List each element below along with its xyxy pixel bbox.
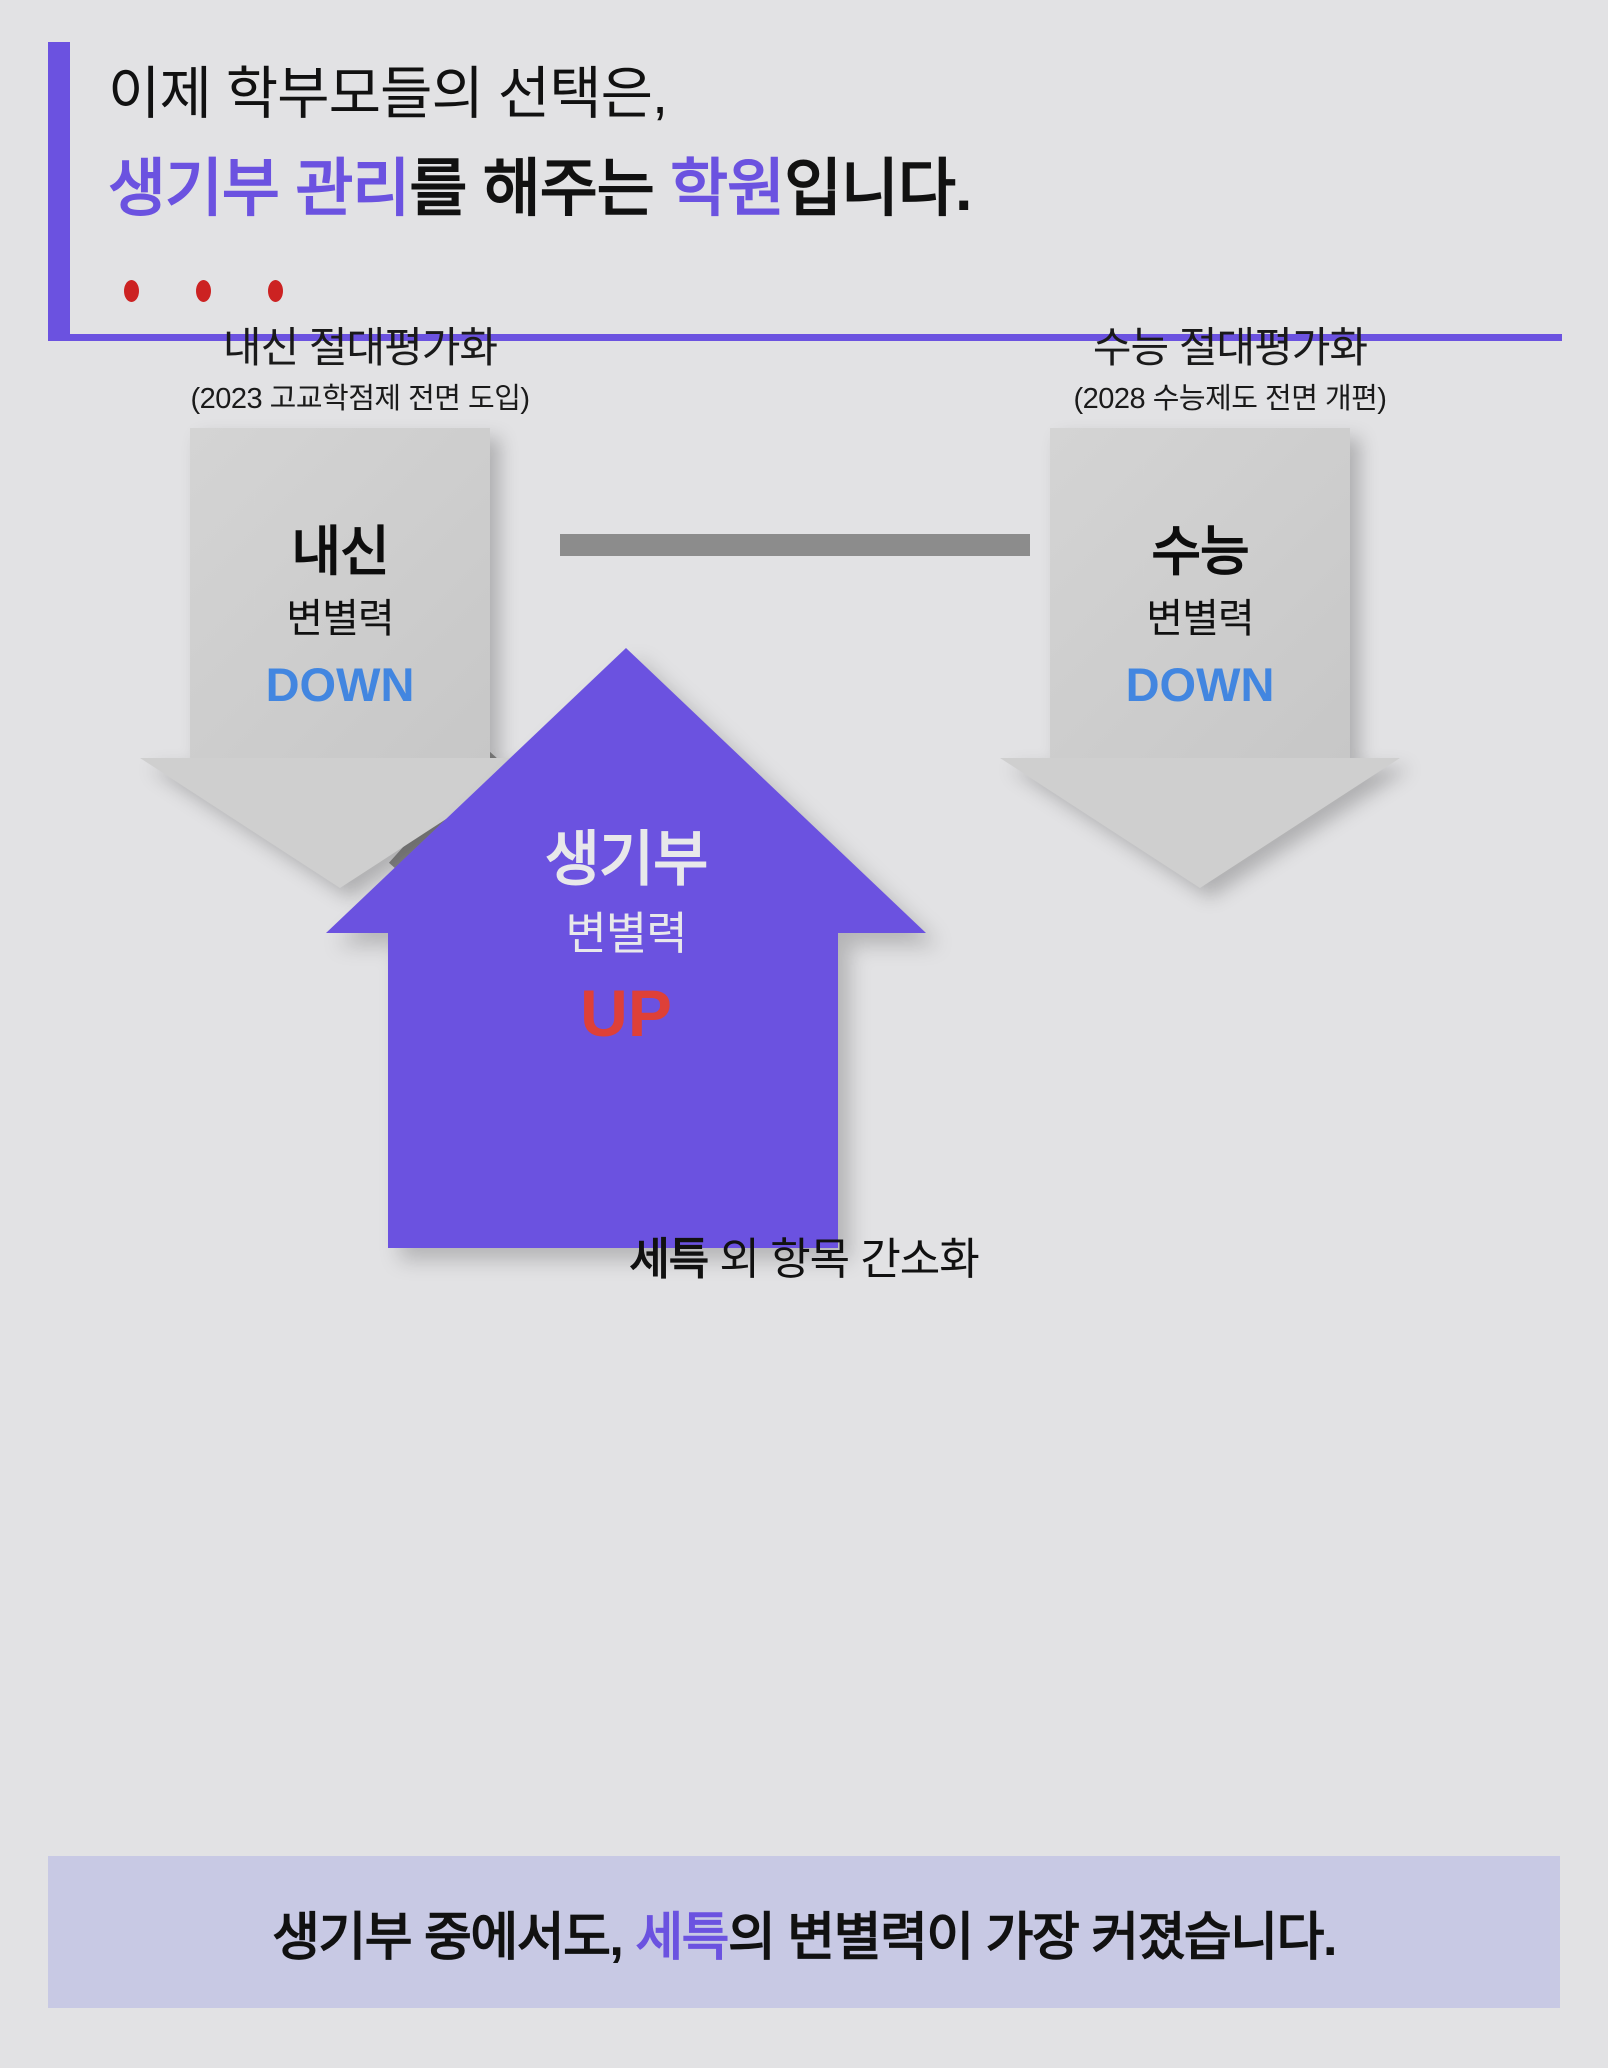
caption-left-main: 내신 절대평가화 [30,324,690,372]
caption-right-sub: (2028 수능제도 전면 개편) [900,382,1560,417]
arrow-down-suneung-subtitle: 변별력 [1050,597,1350,641]
arrow-up-saenggibu: 생기부 변별력 UP [326,648,926,1248]
headline-line-2: 생기부 관리를 해주는 학원입니다. [108,152,1508,228]
arrow-down-suneung-status: DOWN [1050,659,1350,711]
footer-text-part-2: 의 변별력이 가장 커졌습니다. [728,1909,1336,1967]
headline-accent-1: 생기부 관리 [108,154,409,224]
arrow-up-saenggibu-subtitle: 변별력 [326,909,926,959]
arrow-up-saenggibu-title: 생기부 [326,828,926,891]
arrow-down-naesin-subtitle: 변별력 [190,597,490,641]
arrow-down-suneung: 수능 변별력 DOWN [1000,428,1400,888]
caption-left: 내신 절대평가화 (2023 고교학점제 전면 도입) [30,324,690,417]
arrow-up-saenggibu-text: 생기부 변별력 UP [326,828,926,1049]
caption-right-main: 수능 절대평가화 [900,324,1560,372]
diagram-section: 내신 절대평가화 (2023 고교학점제 전면 도입) 수능 절대평가화 (20… [0,348,1608,1348]
caption-left-sub: (2023 고교학점제 전면 도입) [30,382,690,417]
diagram-bottom-caption-strong: 세특 [629,1235,708,1284]
headline-plain-2: 입니다. [784,154,971,224]
caption-right: 수능 절대평가화 (2028 수능제도 전면 개편) [900,324,1560,417]
headline-accent-2: 학원 [670,154,784,224]
connector-horizontal [560,534,1030,556]
footer-text-accent: 세특 [635,1909,728,1967]
diagram-bottom-caption-rest: 외 항목 간소화 [708,1235,979,1284]
arrow-down-suneung-text: 수능 변별력 DOWN [1050,428,1350,710]
headline-line-1: 이제 학부모들의 선택은, [108,60,1508,130]
footer-banner-text: 생기부 중에서도, 세특의 변별력이 가장 커졌습니다. [272,1895,1336,1970]
footer-banner: 생기부 중에서도, 세특의 변별력이 가장 커졌습니다. [48,1856,1560,2008]
arrow-down-suneung-head [1000,758,1400,888]
footer-text-part-1: 생기부 중에서도, [272,1909,635,1967]
arrow-down-naesin-title: 내신 [190,524,490,581]
headline-plain-1: 를 해주는 [409,154,670,224]
emphasis-dots [108,280,388,306]
arrow-up-saenggibu-status: UP [326,977,926,1050]
diagram-bottom-caption: 세특 외 항목 간소화 [0,1223,1608,1287]
arrow-down-suneung-title: 수능 [1050,524,1350,581]
header-section: 이제 학부모들의 선택은, 생기부 관리를 해주는 학원입니다. [0,0,1608,348]
header-accent-bar-left [48,42,70,340]
headline-block: 이제 학부모들의 선택은, 생기부 관리를 해주는 학원입니다. [108,60,1508,227]
